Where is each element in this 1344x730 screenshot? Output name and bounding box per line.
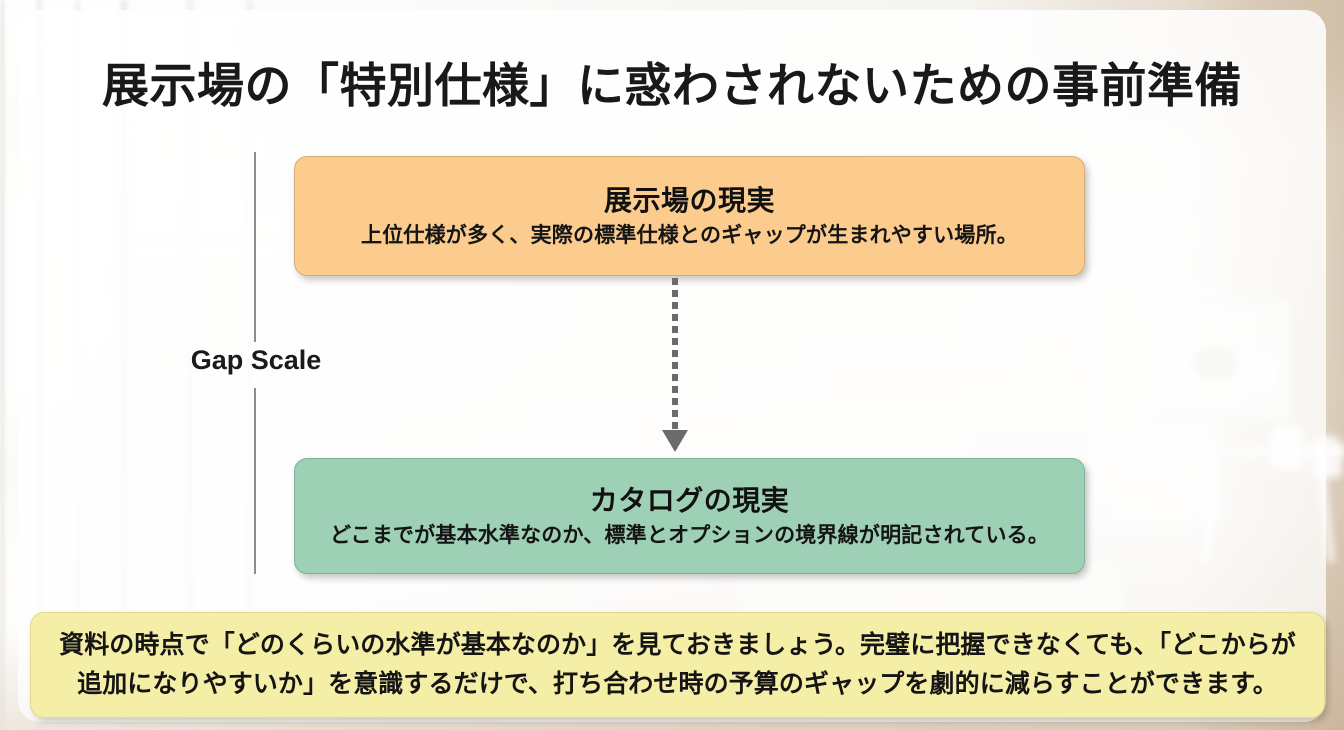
gap-scale-label: Gap Scale (182, 345, 330, 376)
showroom-reality-title: 展示場の現実 (604, 183, 775, 218)
catalog-reality-title: カタログの現実 (590, 483, 790, 518)
takeaway-line-2: 追加になりやすいか」を意識するだけで、打ち合わせ時の予算のギャップを劇的に減らす… (77, 665, 1278, 705)
slide-canvas: 展示場の「特別仕様」に惑わされないための事前準備 Gap Scale 展示場の現… (0, 0, 1344, 730)
takeaway-line-1: 資料の時点で「どのくらいの水準が基本なのか」を見ておきましょう。完璧に把握できな… (59, 626, 1296, 666)
catalog-reality-card: カタログの現実 どこまでが基本水準なのか、標準とオプションの境界線が明記されてい… (294, 458, 1085, 574)
dotted-arrow-down-icon (669, 278, 681, 456)
arrow-shaft (672, 278, 678, 436)
takeaway-banner: 資料の時点で「どのくらいの水準が基本なのか」を見ておきましょう。完璧に把握できな… (30, 612, 1325, 718)
axis-segment-upper (254, 152, 256, 342)
slide-content: 展示場の「特別仕様」に惑わされないための事前準備 Gap Scale 展示場の現… (0, 0, 1344, 730)
showroom-reality-description: 上位仕様が多く、実際の標準仕様とのギャップが生まれやすい場所。 (361, 222, 1018, 249)
arrow-head (662, 430, 688, 452)
showroom-reality-card: 展示場の現実 上位仕様が多く、実際の標準仕様とのギャップが生まれやすい場所。 (294, 156, 1085, 276)
page-title: 展示場の「特別仕様」に惑わされないための事前準備 (0, 47, 1344, 116)
axis-segment-lower (254, 388, 256, 574)
catalog-reality-description: どこまでが基本水準なのか、標準とオプションの境界線が明記されている。 (330, 522, 1049, 549)
